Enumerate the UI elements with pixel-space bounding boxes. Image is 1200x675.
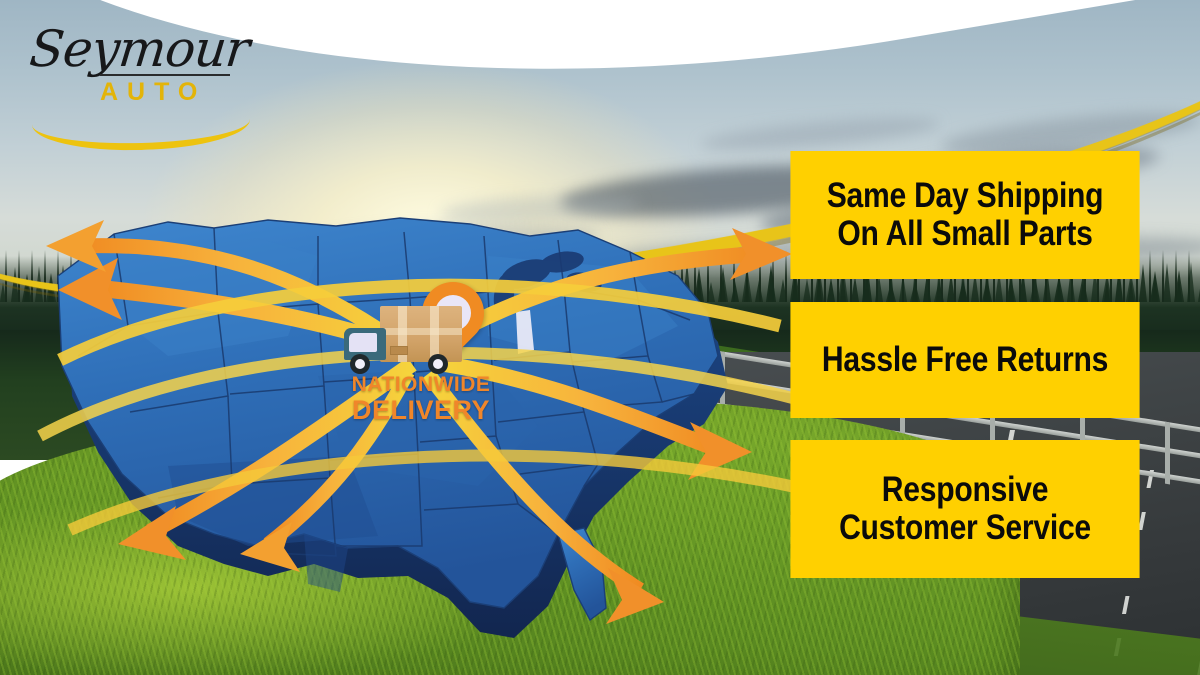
callout-line: Customer Service bbox=[839, 509, 1091, 547]
pine-tree bbox=[875, 275, 883, 302]
truck-window bbox=[349, 333, 377, 352]
callout-line: Same Day Shipping bbox=[827, 177, 1104, 215]
callout-line: Responsive bbox=[839, 471, 1091, 509]
logo-wordmark: Seymour bbox=[27, 20, 252, 78]
pine-tree bbox=[1139, 264, 1147, 302]
badge-text: NATIONWIDE DELIVERY bbox=[336, 374, 506, 424]
promo-banner: NATIONWIDE DELIVERY Seymour AUTO Same Da… bbox=[0, 0, 1200, 675]
pine-tree bbox=[827, 277, 835, 302]
badge-line-1: NATIONWIDE bbox=[336, 374, 506, 396]
pine-tree bbox=[1080, 281, 1086, 302]
pine-tree bbox=[1104, 280, 1110, 302]
pine-tree bbox=[1176, 277, 1182, 302]
pine-tree bbox=[1056, 282, 1062, 302]
callout-text: Hassle Free Returns bbox=[822, 341, 1108, 379]
pine-tree bbox=[1152, 278, 1158, 302]
nationwide-delivery-badge: NATIONWIDE DELIVERY bbox=[336, 282, 506, 447]
truck-wheel bbox=[428, 354, 448, 374]
arrow-head bbox=[606, 568, 664, 624]
callout-text: ResponsiveCustomer Service bbox=[839, 471, 1091, 547]
callout-box-2[interactable]: Hassle Free Returns bbox=[790, 302, 1139, 418]
callout-line: Hassle Free Returns bbox=[822, 341, 1108, 379]
truck-wheel bbox=[350, 354, 370, 374]
pine-tree bbox=[851, 276, 859, 302]
pine-tree bbox=[1128, 279, 1134, 302]
callout-box-1[interactable]: Same Day ShippingOn All Small Parts bbox=[790, 151, 1139, 279]
logo-underline bbox=[100, 74, 230, 76]
shipping-label bbox=[390, 346, 408, 355]
callout-line: On All Small Parts bbox=[827, 215, 1104, 253]
brand-logo[interactable]: Seymour AUTO bbox=[22, 16, 252, 128]
pine-tree bbox=[1187, 262, 1195, 302]
callout-box-3[interactable]: ResponsiveCustomer Service bbox=[790, 440, 1139, 578]
badge-line-2: DELIVERY bbox=[336, 396, 506, 424]
callout-text: Same Day ShippingOn All Small Parts bbox=[827, 177, 1104, 253]
pine-tree bbox=[1163, 263, 1171, 302]
delivery-truck-icon bbox=[344, 306, 464, 368]
